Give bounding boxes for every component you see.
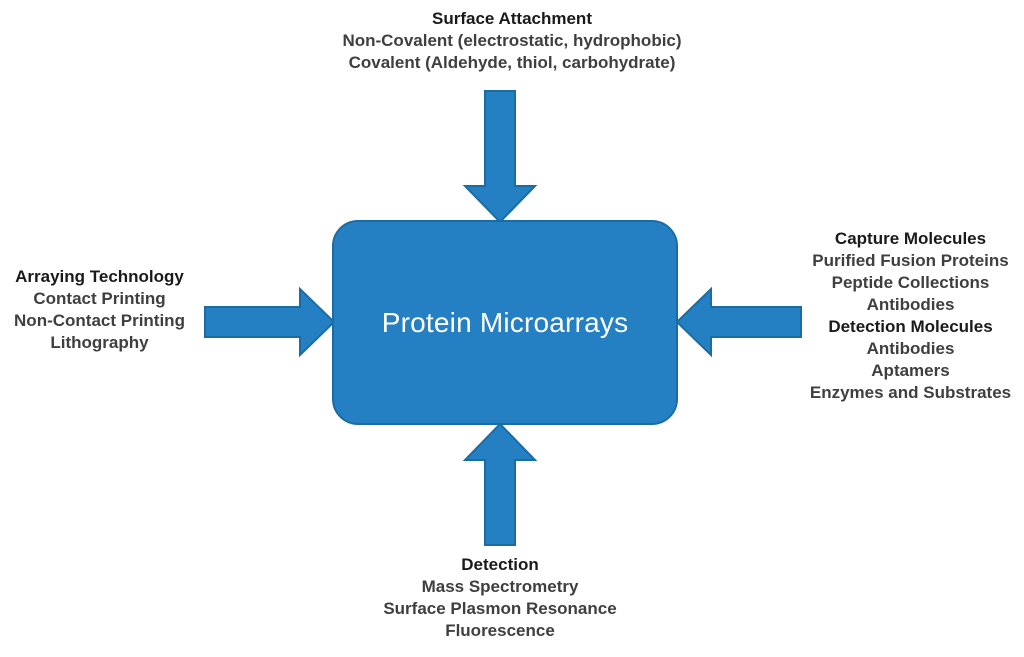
label-line: Covalent (Aldehyde, thiol, carbohydrate) xyxy=(0,52,1024,74)
label-line: Surface Attachment xyxy=(0,8,1024,30)
label-line: Mass Spectrometry xyxy=(260,576,740,598)
arrow-right-icon xyxy=(203,288,335,356)
label-block-top: Surface Attachment Non-Covalent (electro… xyxy=(0,8,1024,74)
label-block-left: Arraying Technology Contact Printing Non… xyxy=(0,266,199,354)
label-line: Detection xyxy=(260,554,740,576)
label-line: Purified Fusion Proteins xyxy=(797,250,1024,272)
label-line: Non-Contact Printing xyxy=(0,310,199,332)
label-line: Non-Covalent (electrostatic, hydrophobic… xyxy=(0,30,1024,52)
label-line: Antibodies xyxy=(797,338,1024,360)
arrow-down-icon xyxy=(464,90,536,223)
arrow-up-icon xyxy=(464,422,536,546)
center-node-label: Protein Microarrays xyxy=(382,306,629,340)
label-line: Contact Printing xyxy=(0,288,199,310)
label-block-bottom: Detection Mass Spectrometry Surface Plas… xyxy=(260,554,740,642)
diagram-canvas: Protein Microarrays Surface Attachment N… xyxy=(0,0,1024,657)
label-line: Lithography xyxy=(0,332,199,354)
label-line: Surface Plasmon Resonance xyxy=(260,598,740,620)
label-line: Aptamers xyxy=(797,360,1024,382)
label-line: Antibodies xyxy=(797,294,1024,316)
label-line: Enzymes and Substrates xyxy=(797,382,1024,404)
label-block-right: Capture Molecules Purified Fusion Protei… xyxy=(797,228,1024,404)
center-node: Protein Microarrays xyxy=(332,220,678,425)
label-line: Peptide Collections xyxy=(797,272,1024,294)
label-line: Fluorescence xyxy=(260,620,740,642)
arrow-left-icon xyxy=(675,288,803,356)
label-line: Detection Molecules xyxy=(797,316,1024,338)
label-line: Capture Molecules xyxy=(797,228,1024,250)
label-line: Arraying Technology xyxy=(0,266,199,288)
